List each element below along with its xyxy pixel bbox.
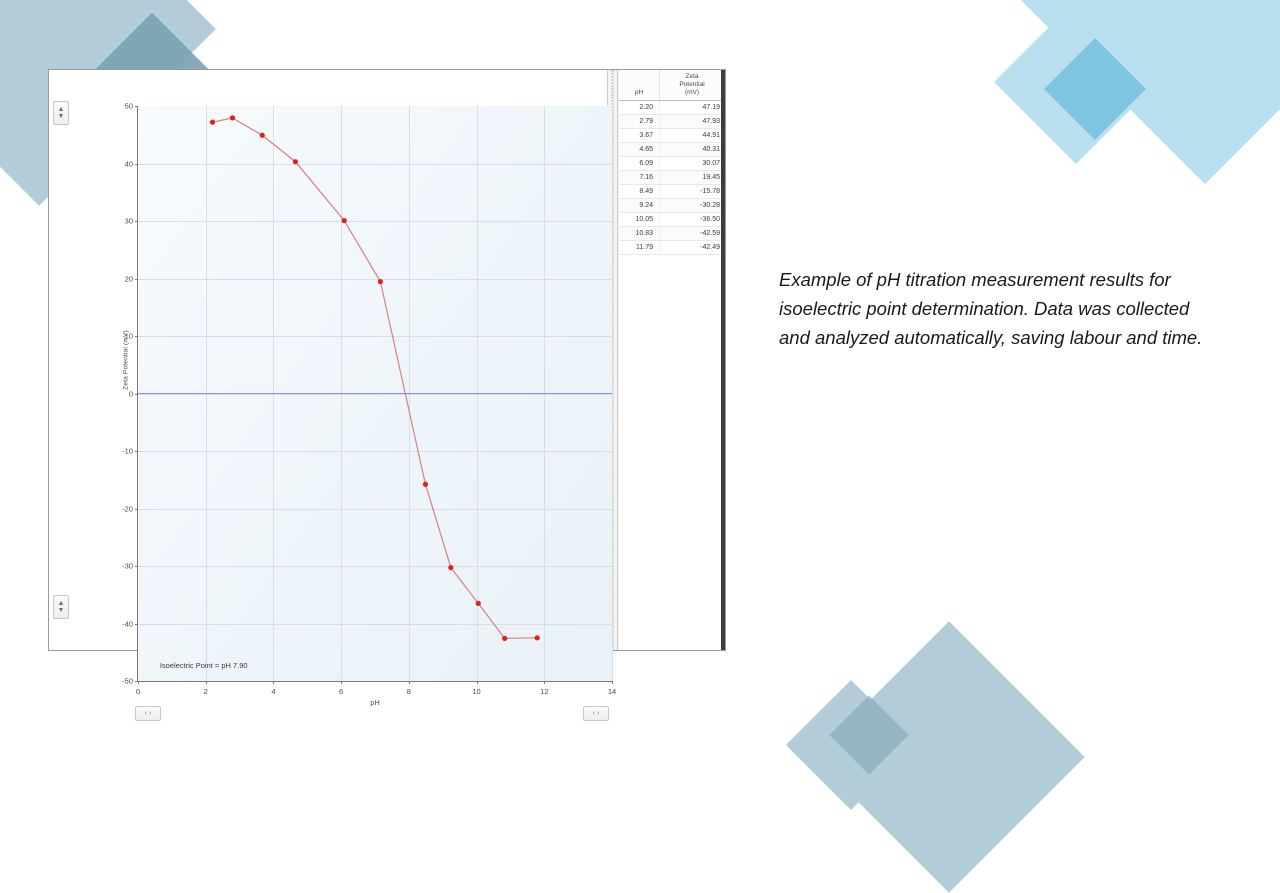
chevron-up-icon: ▲ [58, 600, 65, 607]
series-data-point[interactable] [448, 565, 453, 570]
x-axis-scroll-left-right-end[interactable]: ‹ › [583, 706, 609, 721]
table-row[interactable]: 9.24-30.28 [619, 199, 725, 213]
cell-ph: 10.05 [619, 213, 660, 227]
series-data-point[interactable] [210, 120, 215, 125]
data-table-panel[interactable]: pH Zeta Potential (mV) 2.2047.192.7947.9… [618, 70, 725, 650]
gridline-vertical [612, 106, 613, 681]
series-data-point[interactable] [423, 482, 428, 487]
column-header-ph[interactable]: pH [619, 70, 660, 101]
x-axis-scroll-left-right-start[interactable]: ‹ › [135, 706, 161, 721]
plot-wrapper: Zeta Potential (mV) 50403020100-10-20-30… [72, 70, 607, 650]
cell-zeta-potential: -36.50 [660, 213, 725, 227]
cell-zeta-potential: 47.19 [660, 101, 725, 115]
slide-caption: Example of pH titration measurement resu… [779, 265, 1209, 352]
x-tick-mark [409, 681, 410, 684]
column-header-line-2: Potential [663, 81, 721, 89]
x-tick-mark [273, 681, 274, 684]
cell-ph: 9.24 [619, 199, 660, 213]
x-tick-mark [544, 681, 545, 684]
cell-zeta-potential: 44.91 [660, 129, 725, 143]
cell-zeta-potential: -30.28 [660, 199, 725, 213]
data-table-body: 2.2047.192.7947.933.6744.914.6540.316.09… [619, 101, 725, 255]
y-axis-scroll-up-down-top[interactable]: ▲ ▼ [53, 101, 69, 125]
deco-diamond-bottom-right-small [786, 680, 916, 810]
series-line [212, 118, 537, 638]
chevron-left-icon: ‹ [145, 710, 147, 717]
x-tick-mark [138, 681, 139, 684]
cell-ph: 11.79 [619, 241, 660, 255]
table-vertical-scrollbar[interactable] [721, 70, 725, 650]
cell-ph: 4.65 [619, 143, 660, 157]
table-row[interactable]: 8.49-15.78 [619, 185, 725, 199]
table-row[interactable]: 2.2047.19 [619, 101, 725, 115]
series-data-point[interactable] [476, 601, 481, 606]
x-tick-mark [477, 681, 478, 684]
cell-ph: 3.67 [619, 129, 660, 143]
cell-ph: 2.20 [619, 101, 660, 115]
cell-zeta-potential: -15.78 [660, 185, 725, 199]
cell-zeta-potential: 47.93 [660, 115, 725, 129]
table-row[interactable]: 4.6540.31 [619, 143, 725, 157]
deco-diamond-bottom-right-large [813, 621, 1085, 893]
vertical-scroll-rail: ▲ ▼ ▲ ▼ [49, 70, 72, 650]
series-data-point[interactable] [260, 133, 265, 138]
chevron-down-icon: ▼ [58, 607, 65, 614]
cell-ph: 2.79 [619, 115, 660, 129]
table-row[interactable]: 10.83-42.59 [619, 227, 725, 241]
cell-ph: 7.16 [619, 171, 660, 185]
series-data-point[interactable] [293, 159, 298, 164]
chart-panel[interactable]: Zeta Potential (mV) 50403020100-10-20-30… [72, 70, 607, 650]
chevron-left-icon: ‹ [593, 710, 595, 717]
x-tick-mark [612, 681, 613, 684]
cell-ph: 10.83 [619, 227, 660, 241]
series-data-point[interactable] [535, 635, 540, 640]
cell-zeta-potential: -42.49 [660, 241, 725, 255]
chart-application-window: ▲ ▼ ▲ ▼ Zeta Potential (mV) 50403020100-… [48, 69, 726, 651]
series-data-point[interactable] [342, 218, 347, 223]
table-header-row: pH Zeta Potential (mV) [619, 70, 725, 101]
series-data-point[interactable] [502, 636, 507, 641]
x-tick-mark [341, 681, 342, 684]
chevron-up-icon: ▲ [58, 106, 65, 113]
data-table-head: pH Zeta Potential (mV) [619, 70, 725, 101]
column-header-zeta-potential[interactable]: Zeta Potential (mV) [660, 70, 725, 101]
table-row[interactable]: 3.6744.91 [619, 129, 725, 143]
cell-zeta-potential: 30.07 [660, 157, 725, 171]
cell-zeta-potential: 19.45 [660, 171, 725, 185]
table-row[interactable]: 7.1619.45 [619, 171, 725, 185]
chevron-down-icon: ▼ [58, 113, 65, 120]
deco-diamond-top-right-large [993, 0, 1280, 184]
y-axis-scroll-up-down-bottom[interactable]: ▲ ▼ [53, 595, 69, 619]
series-data-point[interactable] [378, 279, 383, 284]
chevron-right-icon: › [149, 710, 151, 717]
isoelectric-point-annotation: Isoelectric Point = pH 7.90 [160, 661, 248, 670]
deco-diamond-top-right-small [1044, 38, 1146, 140]
table-row[interactable]: 10.05-36.50 [619, 213, 725, 227]
cell-ph: 8.49 [619, 185, 660, 199]
data-table: pH Zeta Potential (mV) 2.2047.192.7947.9… [619, 70, 725, 255]
table-row[interactable]: 6.0930.07 [619, 157, 725, 171]
x-axis-title: pH [138, 698, 612, 707]
chevron-right-icon: › [597, 710, 599, 717]
column-header-line-3: (mV) [663, 89, 721, 97]
x-tick-mark [206, 681, 207, 684]
cell-ph: 6.09 [619, 157, 660, 171]
deco-diamond-top-right-mid [994, 0, 1158, 164]
column-header-line-1: Zeta [663, 73, 721, 81]
deco-diamond-bottom-right-overlap [829, 695, 908, 774]
cell-zeta-potential: 40.31 [660, 143, 725, 157]
data-series-zeta-potential[interactable] [138, 106, 612, 681]
cell-zeta-potential: -42.59 [660, 227, 725, 241]
series-data-point[interactable] [230, 115, 235, 120]
table-row[interactable]: 2.7947.93 [619, 115, 725, 129]
plot-area[interactable]: 50403020100-10-20-30-40-50 02468101214 I… [138, 106, 612, 681]
table-row[interactable]: 11.79-42.49 [619, 241, 725, 255]
